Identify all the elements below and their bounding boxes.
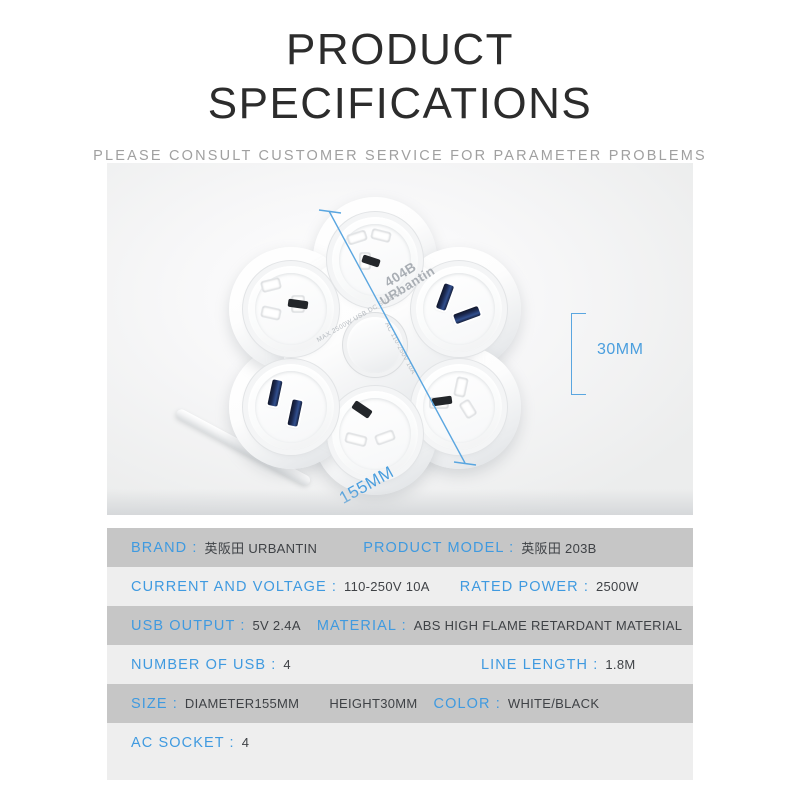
spec-value: 4	[283, 657, 291, 672]
table-row: SIZE : DIAMETER155MM HEIGHT30MM COLOR : …	[107, 684, 693, 723]
spec-label: COLOR :	[434, 696, 501, 712]
spec-value: HEIGHT30MM	[329, 696, 417, 711]
spec-label: RATED POWER :	[460, 579, 589, 595]
spec-value: WHITE/BLACK	[508, 696, 599, 711]
spec-value: 5V 2.4A	[252, 618, 300, 633]
spec-label: PRODUCT MODEL :	[363, 540, 514, 556]
power-strip-illustration: 404B URbantin MAX 2500W USB DC 5V 2.4A A…	[225, 195, 525, 495]
page-title-line-2: SPECIFICATIONS	[0, 80, 800, 128]
spec-value: 4	[242, 735, 250, 750]
spec-value: 2500W	[596, 579, 639, 594]
spec-label: MATERIAL :	[317, 618, 407, 634]
table-footer-spacer	[107, 762, 693, 780]
panel-bottom-shadow	[107, 489, 693, 515]
height-dimension: 30MM	[571, 313, 691, 393]
page-subtitle: PLEASE CONSULT CUSTOMER SERVICE FOR PARA…	[0, 148, 800, 164]
spec-label: NUMBER OF USB :	[131, 657, 276, 673]
spec-label: LINE LENGTH :	[481, 657, 598, 673]
spec-value: 英阪田 URBANTIN	[205, 538, 318, 557]
table-row: USB OUTPUT : 5V 2.4A MATERIAL : ABS HIGH…	[107, 606, 693, 645]
ac-socket-right	[416, 364, 502, 450]
height-dimension-label: 30MM	[597, 341, 643, 359]
table-row: AC SOCKET : 4	[107, 723, 693, 762]
height-dimension-bracket	[571, 313, 586, 395]
product-photo-panel: 404B URbantin MAX 2500W USB DC 5V 2.4A A…	[107, 163, 693, 515]
spec-label: AC SOCKET :	[131, 735, 235, 751]
spec-value: DIAMETER155MM	[185, 696, 299, 711]
ac-socket-bottom	[332, 391, 418, 477]
spec-label: SIZE :	[131, 696, 178, 712]
specification-table: BRAND : 英阪田 URBANTIN PRODUCT MODEL : 英阪田…	[107, 528, 693, 780]
spec-label: CURRENT AND VOLTAGE :	[131, 579, 337, 595]
spec-label: BRAND :	[131, 540, 198, 556]
spec-value: 110-250V 10A	[344, 579, 430, 594]
table-row: BRAND : 英阪田 URBANTIN PRODUCT MODEL : 英阪田…	[107, 528, 693, 567]
spec-value: ABS HIGH FLAME RETARDANT MATERIAL	[414, 618, 683, 633]
page-title-line-1: PRODUCT	[0, 26, 800, 74]
spec-label: USB OUTPUT :	[131, 618, 245, 634]
page-header: PRODUCT SPECIFICATIONS PLEASE CONSULT CU…	[0, 0, 800, 164]
table-row: CURRENT AND VOLTAGE : 110-250V 10A RATED…	[107, 567, 693, 606]
usb-port-group-lower-left	[248, 364, 334, 450]
spec-value: 英阪田 203B	[521, 538, 596, 557]
spec-value: 1.8M	[605, 657, 635, 672]
table-row: NUMBER OF USB : 4 LINE LENGTH : 1.8M	[107, 645, 693, 684]
